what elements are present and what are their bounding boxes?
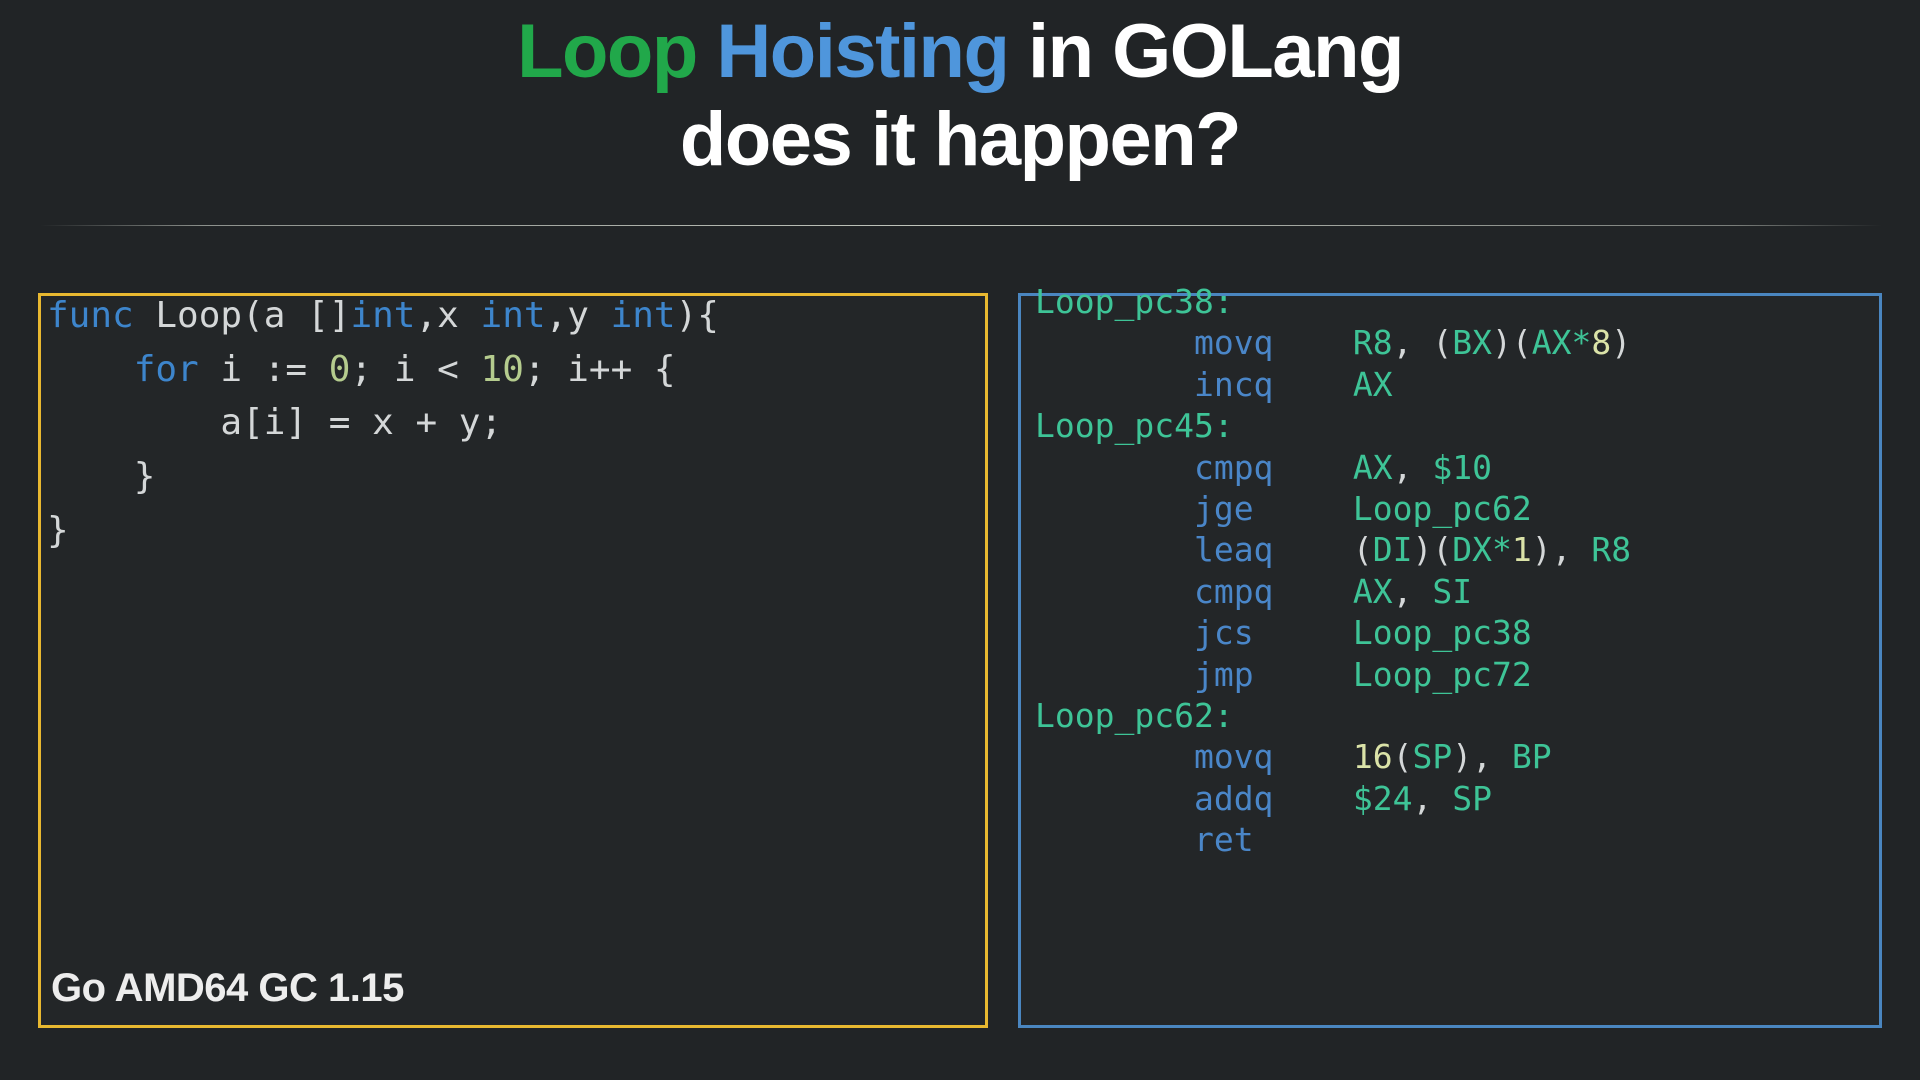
asm-operand-ax-4: AX xyxy=(1353,572,1393,611)
header-divider xyxy=(40,225,1882,226)
asm-operand-sp-2: SP xyxy=(1452,779,1492,818)
asm-operand-si: SI xyxy=(1432,572,1472,611)
asm-operand-ax-3: AX xyxy=(1353,448,1393,487)
go-version-badge: Go AMD64 GC 1.15 xyxy=(51,966,404,1011)
asm-punct-6: )( xyxy=(1413,530,1453,569)
go-literal-10: 10 xyxy=(481,349,524,390)
asm-mnemonic-incq: incq xyxy=(1194,365,1273,404)
asm-punct-1: , ( xyxy=(1393,323,1453,362)
asm-operand-dx: DX* xyxy=(1452,530,1512,569)
asm-mnemonic-addq: addq xyxy=(1194,779,1273,818)
go-func-signature: Loop(a [] xyxy=(134,295,351,336)
go-source-code: func Loop(a []int,x int,y int){ for i :=… xyxy=(47,289,719,557)
asm-imm-1: 1 xyxy=(1512,530,1532,569)
go-sig-part-2: ,x xyxy=(415,295,480,336)
title-word-loop: Loop xyxy=(517,9,697,94)
title-word-hoisting: Hoisting xyxy=(716,9,1008,94)
assembly-code: Loop_pc38: movq R8, (BX)(AX*8) incq AX L… xyxy=(1035,281,1631,861)
asm-punct-5: ( xyxy=(1353,530,1373,569)
asm-punct-3: ) xyxy=(1611,323,1631,362)
asm-punct-2: )( xyxy=(1492,323,1532,362)
go-keyword-func: func xyxy=(47,295,134,336)
asm-label-pc45: Loop_pc45: xyxy=(1035,406,1234,445)
asm-operand-di: DI xyxy=(1373,530,1413,569)
asm-mnemonic-jmp: jmp xyxy=(1194,655,1254,694)
go-literal-0: 0 xyxy=(329,349,351,390)
asm-imm-24: $24 xyxy=(1353,779,1413,818)
asm-mnemonic-leaq: leaq xyxy=(1194,530,1273,569)
asm-operand-r8: R8 xyxy=(1353,323,1393,362)
asm-operand-sp-1: SP xyxy=(1413,737,1453,776)
asm-mnemonic-ret: ret xyxy=(1194,820,1254,859)
asm-operand-r8-2: R8 xyxy=(1591,530,1631,569)
asm-label-pc62: Loop_pc62: xyxy=(1035,696,1234,735)
asm-target-pc38: Loop_pc38 xyxy=(1353,613,1532,652)
asm-mnemonic-cmpq-2: cmpq xyxy=(1194,572,1273,611)
asm-imm-10: $10 xyxy=(1432,448,1492,487)
asm-mnemonic-jcs: jcs xyxy=(1194,613,1254,652)
asm-target-pc72: Loop_pc72 xyxy=(1353,655,1532,694)
asm-punct-8: , xyxy=(1393,572,1433,611)
go-type-int-3: int xyxy=(611,295,676,336)
asm-target-pc62-1: Loop_pc62 xyxy=(1353,489,1532,528)
asm-imm-16: 16 xyxy=(1353,737,1393,776)
title-line-1: Loop Hoisting in GOLang xyxy=(0,8,1920,96)
go-for-part-2: ; i < xyxy=(350,349,480,390)
asm-imm-8: 8 xyxy=(1591,323,1611,362)
asm-mnemonic-jge: jge xyxy=(1194,489,1254,528)
asm-operand-ax-2: AX xyxy=(1353,365,1393,404)
go-for-part-1: i := xyxy=(199,349,329,390)
go-type-int-1: int xyxy=(350,295,415,336)
page-title: Loop Hoisting in GOLang does it happen? xyxy=(0,8,1920,184)
go-source-panel: func Loop(a []int,x int,y int){ for i :=… xyxy=(38,293,988,1028)
title-space-1 xyxy=(697,9,717,94)
title-word-in-golang: in GOLang xyxy=(1008,9,1403,94)
asm-label-pc38: Loop_pc38: xyxy=(1035,282,1234,321)
asm-punct-10: ), xyxy=(1452,737,1512,776)
asm-punct-4: , xyxy=(1393,448,1433,487)
asm-operand-ax-1: AX* xyxy=(1532,323,1592,362)
slide-root: Loop Hoisting in GOLang does it happen? … xyxy=(0,0,1920,1080)
asm-mnemonic-movq-1: movq xyxy=(1194,323,1273,362)
asm-mnemonic-cmpq-1: cmpq xyxy=(1194,448,1273,487)
go-sig-part-3: ,y xyxy=(546,295,611,336)
go-type-int-2: int xyxy=(481,295,546,336)
go-keyword-for: for xyxy=(134,349,199,390)
asm-punct-11: , xyxy=(1413,779,1453,818)
asm-operand-bx: BX xyxy=(1452,323,1492,362)
title-line-2: does it happen? xyxy=(0,96,1920,184)
assembly-panel: Loop_pc38: movq R8, (BX)(AX*8) incq AX L… xyxy=(1018,293,1882,1028)
asm-punct-9: ( xyxy=(1393,737,1413,776)
asm-operand-bp: BP xyxy=(1512,737,1552,776)
asm-mnemonic-movq-2: movq xyxy=(1194,737,1273,776)
asm-punct-7: ), xyxy=(1532,530,1592,569)
